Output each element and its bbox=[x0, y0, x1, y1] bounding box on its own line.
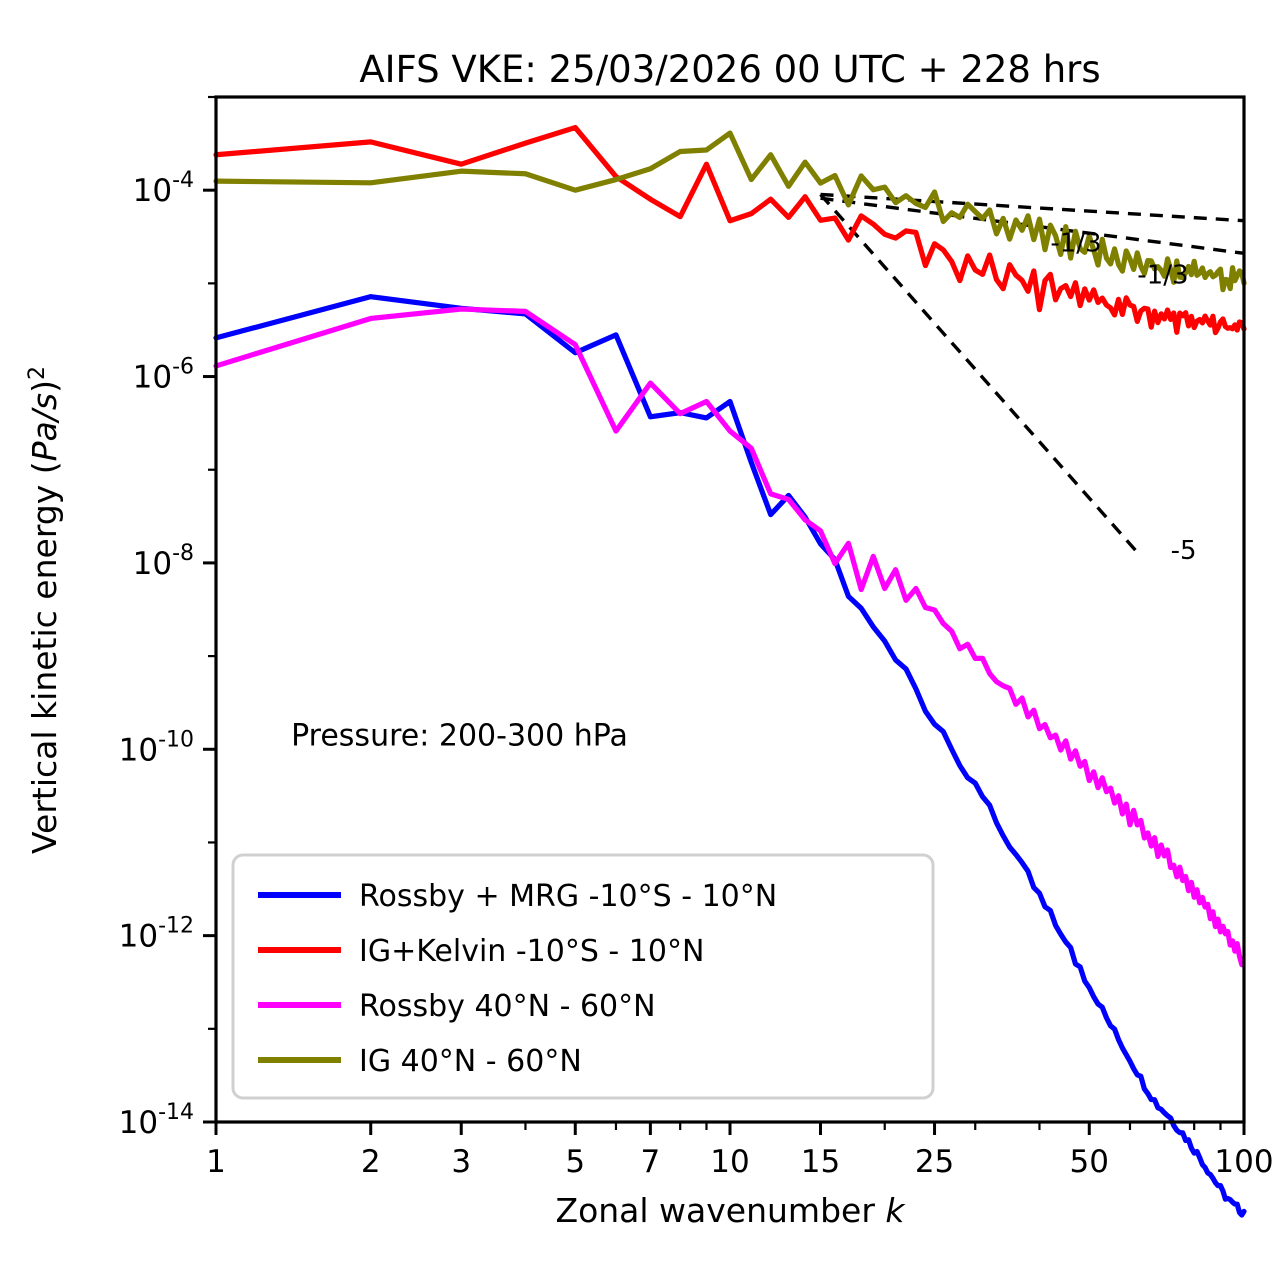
slope-annotation: -1/3 bbox=[1137, 260, 1188, 290]
reference-slope-lines bbox=[821, 194, 1244, 552]
x-tick-label: 15 bbox=[801, 1144, 840, 1180]
legend-label-3: IG 40°N - 60°N bbox=[359, 1044, 582, 1079]
x-axis-label-italic: k bbox=[885, 1191, 906, 1230]
y-tick-label: 10-4 bbox=[133, 168, 194, 209]
x-axis-ticks: 1235710152550100 bbox=[206, 1122, 1273, 1180]
slope-annotation: -5 bbox=[1171, 536, 1197, 566]
legend-label-2: Rossby 40°N - 60°N bbox=[359, 989, 656, 1024]
chart-annotations: Pressure: 200-300 hPa-1/3-1/3-5 bbox=[291, 228, 1196, 753]
y-axis-label: Vertical kinetic energy (Pa/s)2 bbox=[25, 366, 64, 854]
slope-annotation: -1/3 bbox=[1050, 228, 1101, 258]
x-tick-label: 7 bbox=[641, 1144, 661, 1180]
y-tick-label: 10-12 bbox=[119, 914, 194, 955]
vke-spectrum-chart: AIFS VKE: 25/03/2026 00 UTC + 228 hrs Ve… bbox=[0, 0, 1280, 1288]
legend-label-1: IG+Kelvin -10°S - 10°N bbox=[359, 934, 704, 969]
y-axis-label-tail: ) bbox=[25, 380, 64, 393]
x-axis-label-main: Zonal wavenumber bbox=[555, 1191, 885, 1230]
x-tick-label: 50 bbox=[1070, 1144, 1109, 1180]
y-axis-label-superscript: 2 bbox=[25, 366, 50, 380]
x-tick-label: 3 bbox=[451, 1144, 471, 1180]
x-tick-label: 5 bbox=[565, 1144, 585, 1180]
x-tick-label: 100 bbox=[1214, 1144, 1273, 1180]
x-tick-label: 1 bbox=[206, 1144, 226, 1180]
y-axis-label-italic: Pa/s bbox=[25, 393, 64, 461]
y-tick-label: 10-10 bbox=[119, 727, 194, 768]
chart-title: AIFS VKE: 25/03/2026 00 UTC + 228 hrs bbox=[359, 48, 1100, 91]
svg-text:Vertical kinetic energy (Pa/s): Vertical kinetic energy (Pa/s)2 bbox=[25, 366, 64, 854]
legend-label-0: Rossby + MRG -10°S - 10°N bbox=[359, 879, 777, 914]
svg-text:Zonal wavenumber k: Zonal wavenumber k bbox=[555, 1191, 906, 1230]
y-axis-label-main: Vertical kinetic energy ( bbox=[25, 461, 64, 854]
pressure-annotation: Pressure: 200-300 hPa bbox=[291, 718, 628, 753]
chart-legend[interactable]: Rossby + MRG -10°S - 10°NIG+Kelvin -10°S… bbox=[233, 855, 933, 1098]
y-axis-ticks: 10-410-610-810-1010-1210-14 bbox=[119, 97, 216, 1141]
y-tick-label: 10-14 bbox=[119, 1100, 194, 1141]
figure-container: AIFS VKE: 25/03/2026 00 UTC + 228 hrs Ve… bbox=[0, 0, 1280, 1288]
x-tick-label: 25 bbox=[915, 1144, 954, 1180]
reference-slope-line bbox=[821, 194, 1244, 220]
y-tick-label: 10-6 bbox=[133, 355, 194, 396]
x-axis-label: Zonal wavenumber k bbox=[555, 1191, 906, 1230]
x-tick-label: 2 bbox=[361, 1144, 381, 1180]
x-tick-label: 10 bbox=[710, 1144, 749, 1180]
y-tick-label: 10-8 bbox=[133, 541, 194, 582]
